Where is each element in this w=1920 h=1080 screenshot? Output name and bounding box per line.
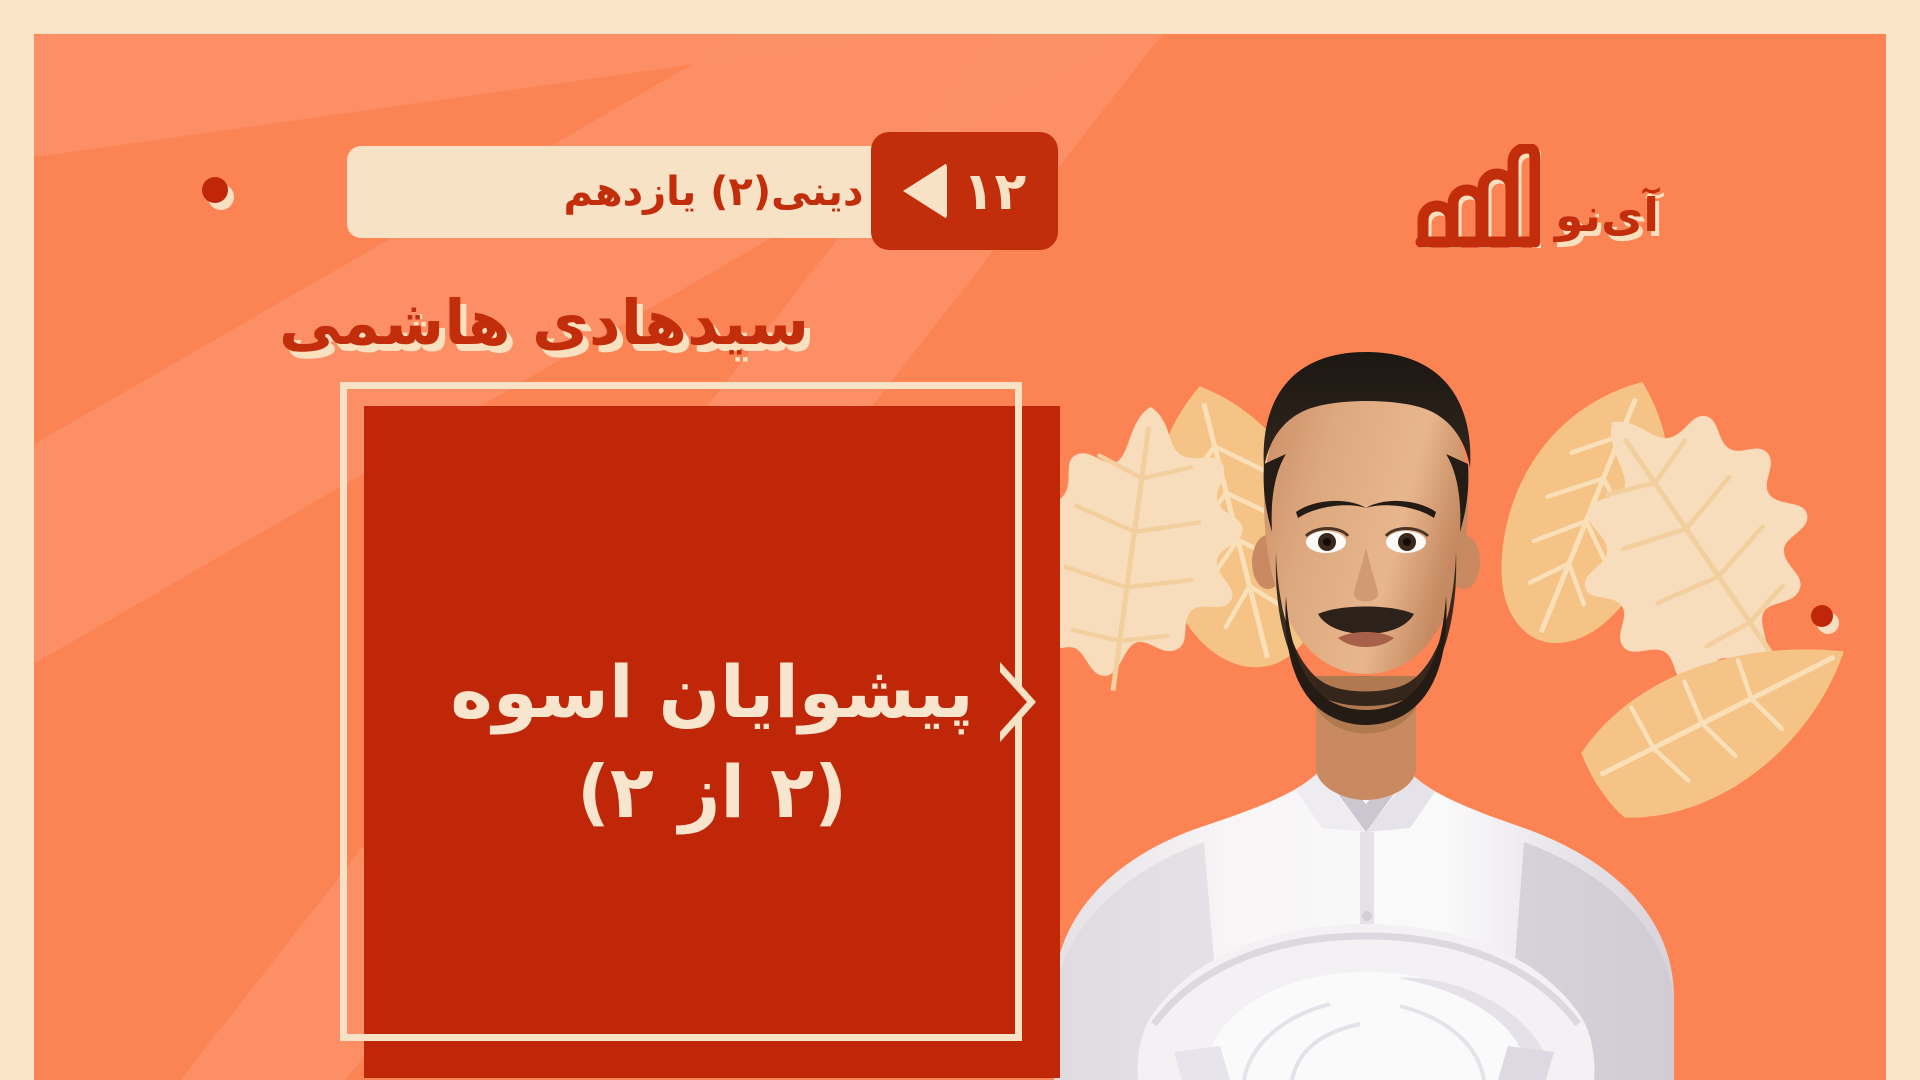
brand-name: آی‌نو	[1555, 192, 1659, 248]
title-text-wrap: پیشوایان اسوه (۲ از ۲)	[364, 406, 1060, 1078]
bar-chart-hand-logo-icon	[1409, 144, 1541, 248]
stage-canvas: دینی(۲) یازدهم ۱۲ سیدهادی هاشمی پیشوایان…	[34, 34, 1886, 1080]
brand-logo[interactable]: آی‌نو	[1409, 138, 1709, 248]
presenter-name: سیدهادی هاشمی	[34, 286, 1054, 359]
thumbnail-root: دینی(۲) یازدهم ۱۲ سیدهادی هاشمی پیشوایان…	[0, 0, 1920, 1080]
subject-pill: دینی(۲) یازدهم ۱۲	[347, 146, 1050, 238]
presenter-photo	[1054, 256, 1674, 1080]
episode-number: ۱۲	[963, 166, 1026, 218]
decorative-dot	[202, 177, 228, 203]
play-icon[interactable]	[903, 163, 947, 219]
decorative-dot	[1811, 605, 1833, 627]
title-line-secondary: (۲ از ۲)	[577, 747, 847, 837]
episode-badge[interactable]: ۱۲	[871, 132, 1058, 250]
title-line-primary: پیشوایان اسوه	[450, 647, 973, 737]
